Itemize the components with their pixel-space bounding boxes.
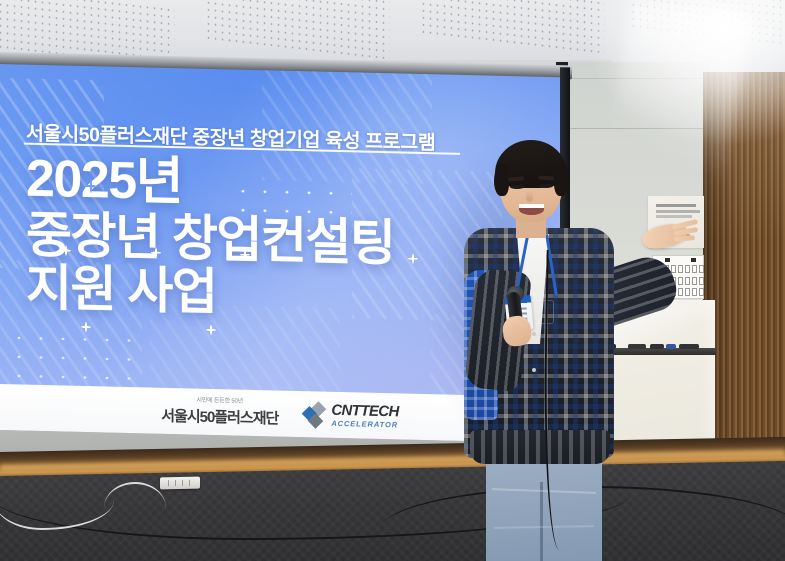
sparkle-icon [73, 314, 99, 341]
jeans-seam [540, 482, 543, 561]
sparkle-icon [198, 317, 224, 344]
sparkle-icon [232, 241, 258, 268]
cnttech-logo: CNTTECH ACCELERATOR [304, 402, 398, 429]
conference-room-scene: 서울시50플러스재단 중장년 창업기업 육성 프로그램 2025년 중장년 창업… [0, 0, 785, 561]
cnttech-diamond-icon [304, 403, 326, 426]
seoul50plus-logo: 시민에 든든한 50년 서울시50플러스재단 [161, 396, 278, 428]
ceiling-tile [205, 0, 390, 63]
presenter-hair [494, 164, 509, 196]
presenter-hair [554, 162, 569, 196]
seoul50plus-name: 서울시50플러스재단 [161, 404, 278, 428]
sparkle-icon [143, 239, 169, 266]
presenter-mouth [519, 204, 544, 215]
presenter-nose [526, 190, 533, 202]
sparkle-icon [53, 237, 79, 264]
cnttech-name: CNTTECH [331, 403, 398, 420]
cnttech-subtitle: ACCELERATOR [331, 420, 398, 429]
sparkle-icon [400, 245, 426, 272]
presenter-eye [510, 185, 524, 189]
marker-pen [679, 344, 699, 349]
sparkle-icon [76, 171, 106, 202]
shirt-button [532, 332, 536, 336]
presenter-eye [539, 184, 553, 188]
shirt-button [532, 368, 536, 372]
power-strip[interactable] [160, 477, 200, 490]
floor-plan-marker [691, 258, 696, 262]
cnttech-wordmark: CNTTECH ACCELERATOR [331, 403, 398, 429]
shirt-hem [470, 430, 610, 464]
